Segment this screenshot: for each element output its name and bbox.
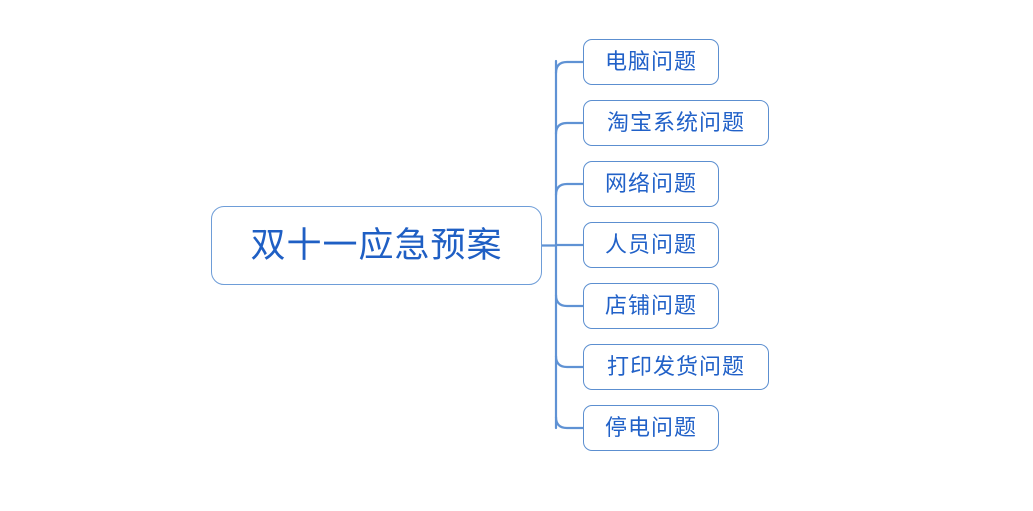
root-node[interactable]: 双十一应急预案 bbox=[211, 206, 542, 285]
root-node-label: 双十一应急预案 bbox=[250, 228, 502, 263]
child-node-3[interactable]: 网络问题 bbox=[583, 161, 719, 207]
connector-branch-5 bbox=[556, 295, 583, 306]
child-node-4[interactable]: 人员问题 bbox=[583, 222, 719, 268]
child-node-6[interactable]: 打印发货问题 bbox=[583, 344, 769, 390]
connector-branch-7 bbox=[556, 417, 583, 428]
child-node-5[interactable]: 店铺问题 bbox=[583, 283, 719, 329]
child-node-1[interactable]: 电脑问题 bbox=[583, 39, 719, 85]
child-node-6-label: 打印发货问题 bbox=[607, 356, 745, 378]
child-node-2-label: 淘宝系统问题 bbox=[607, 112, 745, 134]
connector-branch-2 bbox=[556, 123, 583, 134]
child-node-4-label: 人员问题 bbox=[605, 234, 697, 256]
child-node-7[interactable]: 停电问题 bbox=[583, 405, 719, 451]
mind-map-canvas: 双十一应急预案 电脑问题 淘宝系统问题 网络问题 人员问题 店铺问题 打印发货问… bbox=[0, 0, 1033, 511]
child-node-2[interactable]: 淘宝系统问题 bbox=[583, 100, 769, 146]
child-node-3-label: 网络问题 bbox=[605, 173, 697, 195]
child-node-5-label: 店铺问题 bbox=[605, 295, 697, 317]
connector-branch-1 bbox=[556, 62, 583, 73]
child-node-1-label: 电脑问题 bbox=[605, 51, 697, 73]
connector-branch-6 bbox=[556, 356, 583, 367]
child-node-7-label: 停电问题 bbox=[605, 417, 697, 439]
connector-branch-3 bbox=[556, 184, 583, 195]
